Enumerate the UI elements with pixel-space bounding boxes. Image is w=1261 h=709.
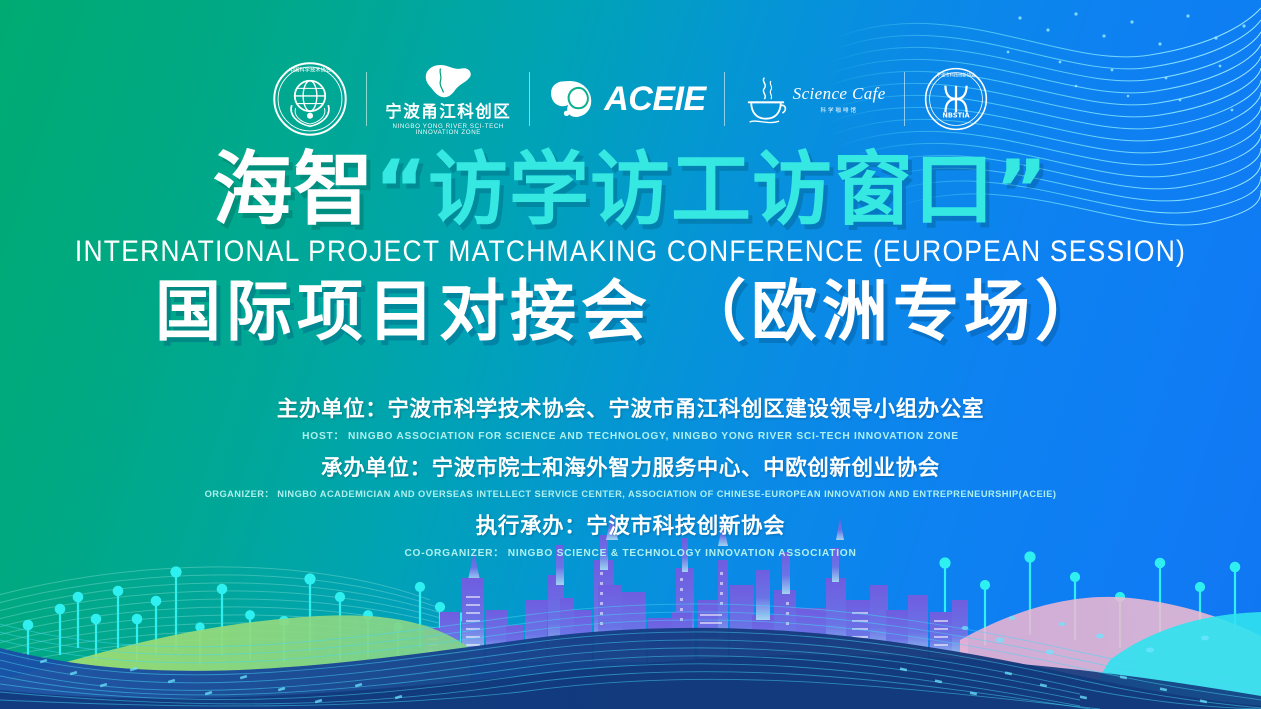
cast-emblem-icon: 中国科学技术协会: [272, 61, 348, 137]
logo-row: 中国科学技术协会 宁波甬江科创区 NINGBO YONG RIVER SCI-T…: [0, 56, 1261, 142]
main-title-cyan-part: “访学访工访窗口”: [374, 143, 1048, 236]
nbstia-abbr: NBSTIA: [942, 111, 970, 119]
main-title-white-part: 海智: [212, 143, 374, 236]
host-en: HOST： NINGBO ASSOCIATION FOR SCIENCE AND…: [0, 427, 1261, 442]
host-cn: 主办单位：宁波市科学技术协会、宁波市甬江科创区建设领导小组办公室: [0, 396, 1261, 423]
co-organizer-en: CO-ORGANIZER： NINGBO SCIENCE & TECHNOLOG…: [0, 544, 1261, 559]
title-block: 海智“访学访工访窗口” INTERNATIONAL PROJECT MATCHM…: [0, 150, 1261, 345]
organizer-main: 承办单位：宁波市院士和海外智力服务中心、中欧创新创业协会 ORGANIZER： …: [0, 455, 1261, 500]
yongjiang-en-line2: INNOVATION ZONE: [393, 130, 504, 136]
title-secondary-chinese: 国际项目对接会 （欧洲专场）: [0, 279, 1261, 345]
science-cafe-wordmark: Science Cafe: [793, 84, 886, 104]
coffee-cup-icon: [743, 74, 789, 124]
co-organizer-cn: 执行承办：宁波市科技创新协会: [0, 513, 1261, 540]
organizer-en: ORGANIZER： NINGBO ACADEMICIAN AND OVERSE…: [0, 486, 1261, 500]
nbstia-emblem-icon: NBSTIA 宁波市科技创新协会: [923, 66, 989, 132]
organizer-cn: 承办单位：宁波市院士和海外智力服务中心、中欧创新创业协会: [0, 455, 1261, 482]
aceie-mark-icon: [548, 76, 602, 122]
yongjiang-en-label: NINGBO YONG RIVER SCI-TECH INNOVATION ZO…: [393, 124, 504, 136]
logo-cast: 中国科学技术协会: [254, 56, 366, 142]
yongjiang-map-icon: [418, 62, 478, 102]
logo-yongjiang: 宁波甬江科创区 NINGBO YONG RIVER SCI-TECH INNOV…: [367, 56, 529, 142]
title-english-subtitle: INTERNATIONAL PROJECT MATCHMAKING CONFER…: [0, 234, 1261, 269]
aceie-wordmark: ACEIE: [604, 80, 705, 119]
science-cafe-cn-label: 科学咖啡馆: [820, 106, 858, 114]
conference-banner: 中国科学技术协会 宁波甬江科创区 NINGBO YONG RIVER SCI-T…: [0, 0, 1261, 709]
logo-nbstia: NBSTIA 宁波市科技创新协会: [905, 56, 1007, 142]
main-title: 海智“访学访工访窗口”: [0, 150, 1261, 230]
organizer-co: 执行承办：宁波市科技创新协会 CO-ORGANIZER： NINGBO SCIE…: [0, 513, 1261, 559]
yongjiang-cn-label: 宁波甬江科创区: [385, 104, 511, 121]
logo-aceie: ACEIE: [530, 56, 723, 142]
organizer-block: 主办单位：宁波市科学技术协会、宁波市甬江科创区建设领导小组办公室 HOST： N…: [0, 396, 1261, 572]
logo-science-cafe: Science Cafe 科学咖啡馆: [725, 56, 904, 142]
organizer-host: 主办单位：宁波市科学技术协会、宁波市甬江科创区建设领导小组办公室 HOST： N…: [0, 396, 1261, 442]
